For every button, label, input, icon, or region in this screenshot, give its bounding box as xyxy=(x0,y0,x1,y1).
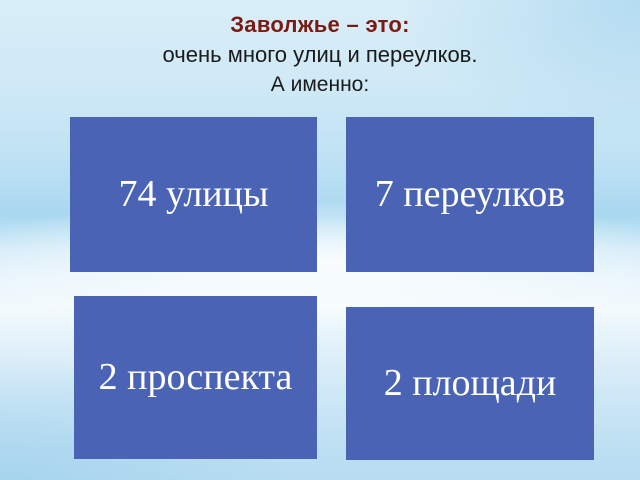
stat-box-squares-text: 2 площади xyxy=(350,364,590,403)
stat-box-streets-text: 74 улицы xyxy=(74,175,313,214)
stats-grid: 74 улицы 7 переулков 2 проспекта 2 площа… xyxy=(70,117,594,462)
stat-box-squares: 2 площади xyxy=(346,307,594,460)
slide-subtitle: очень много улиц и переулков. xyxy=(0,40,640,70)
slide-lead-in: А именно: xyxy=(0,70,640,100)
title-block: Заволжье – это: очень много улиц и переу… xyxy=(0,10,640,100)
stat-box-streets: 74 улицы xyxy=(70,117,317,272)
stat-box-avenues-text: 2 проспекта xyxy=(78,358,313,397)
slide: Заволжье – это: очень много улиц и переу… xyxy=(0,0,640,480)
stat-box-lanes: 7 переулков xyxy=(346,117,594,272)
slide-title: Заволжье – это: xyxy=(0,10,640,40)
stat-box-avenues: 2 проспекта xyxy=(74,296,317,459)
stat-box-lanes-text: 7 переулков xyxy=(350,175,590,214)
